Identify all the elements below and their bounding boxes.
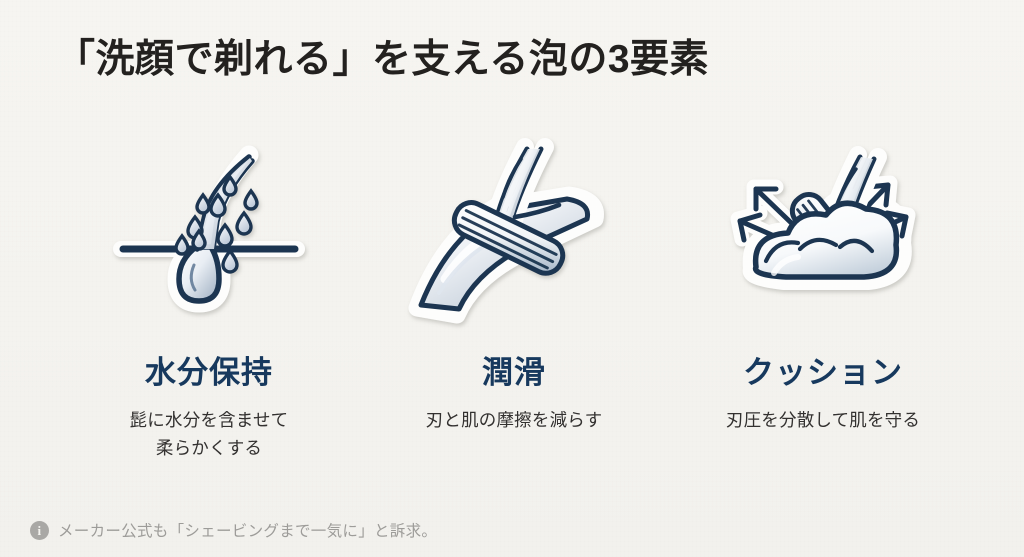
info-circle-icon: i [30, 521, 49, 540]
feature-column-moisture: 水分保持 髭に水分を含ませて 柔らかくする [57, 128, 362, 463]
page-title: 「洗顔で剃れる」を支える泡の3要素 [56, 36, 709, 85]
feature-title: 水分保持 [145, 356, 273, 390]
hair-follicle-with-water-droplets-icon [84, 128, 334, 328]
feature-description-line: 柔らかくする [130, 434, 289, 462]
feature-description-line: 刃圧を分散して肌を守る [726, 406, 920, 434]
feature-column-cushion: クッション 刃圧を分散して肌を守る [671, 128, 976, 463]
footnote: i メーカー公式も「シェービングまで一気に」と訴求。 [30, 519, 437, 541]
razor-gliding-on-skin-icon [389, 128, 639, 328]
slide-canvas: 「洗顔で剃れる」を支える泡の3要素 [0, 0, 1024, 557]
feature-title: 潤滑 [482, 356, 546, 390]
feature-description: 刃圧を分散して肌を守る [726, 406, 920, 434]
footnote-text: メーカー公式も「シェービングまで一気に」と訴求。 [58, 519, 437, 541]
feature-description: 髭に水分を含ませて 柔らかくする [130, 406, 289, 463]
feature-columns: 水分保持 髭に水分を含ませて 柔らかくする [0, 128, 1024, 463]
feature-description-line: 刃と肌の摩擦を減らす [426, 406, 603, 434]
feature-column-lubrication: 潤滑 刃と肌の摩擦を減らす [362, 128, 667, 463]
razor-on-foam-cushion-icon [698, 128, 948, 328]
feature-description: 刃と肌の摩擦を減らす [426, 406, 603, 434]
feature-description-line: 髭に水分を含ませて [130, 406, 289, 434]
feature-title: クッション [743, 356, 903, 390]
